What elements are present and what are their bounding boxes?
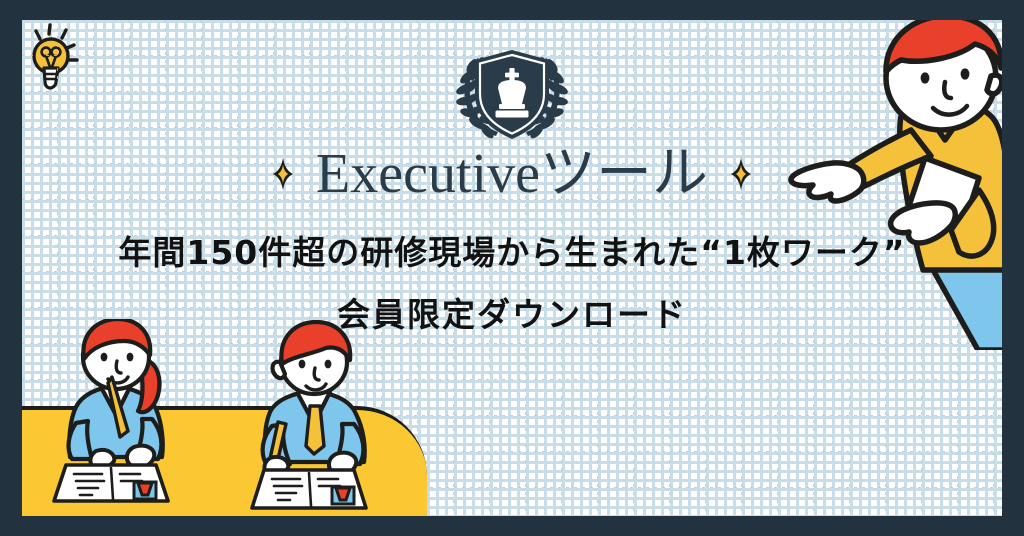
subtitle-line-2: 会員限定ダウンロード	[22, 288, 1002, 336]
lightbulb-idea-icon	[22, 20, 84, 92]
title-row: Executiveツール	[22, 146, 1002, 202]
shield-crown-laurel-emblem-icon	[448, 44, 576, 144]
man-writing-at-desk-illustration	[240, 320, 388, 510]
diamond-sparkle-icon	[272, 157, 294, 191]
diamond-sparkle-icon	[730, 157, 752, 191]
banner-root: Executiveツール 年間150件超の研修現場から生まれた“1枚ワーク” 会…	[0, 0, 1024, 536]
grid-paper-background: Executiveツール 年間150件超の研修現場から生まれた“1枚ワーク” 会…	[22, 20, 1002, 516]
page-title: Executiveツール	[316, 146, 708, 202]
title-block: Executiveツール 年間150件超の研修現場から生まれた“1枚ワーク” 会…	[22, 146, 1002, 336]
woman-writing-at-desk-illustration	[40, 319, 190, 504]
subtitle-line-1: 年間150件超の研修現場から生まれた“1枚ワーク”	[22, 226, 1002, 274]
